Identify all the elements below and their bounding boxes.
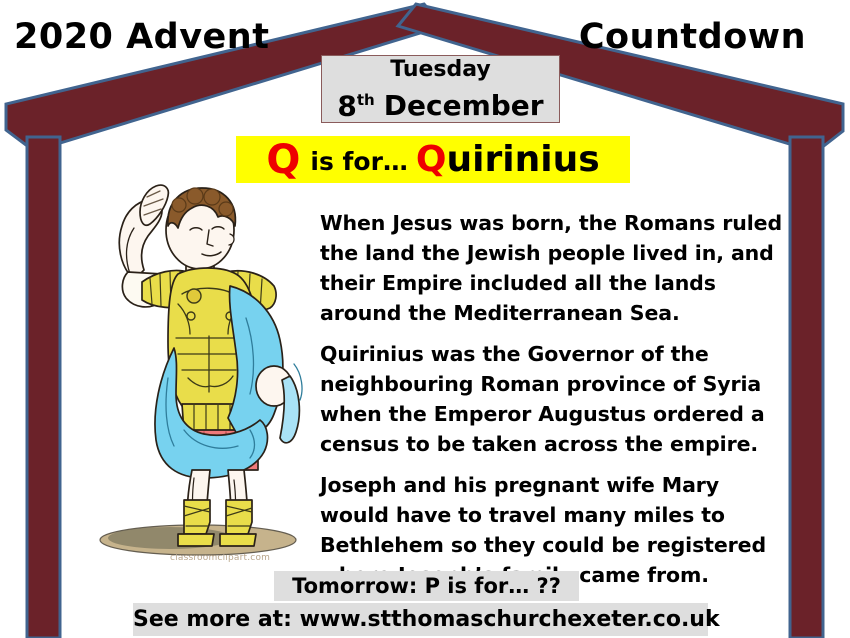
date-month: December (384, 89, 544, 122)
see-more-plate: See more at: www.stthomaschurchexeter.co… (133, 603, 708, 636)
image-watermark: classroomclipart.com (170, 553, 320, 563)
roman-governor-illustration: classroomclipart.com (78, 178, 316, 573)
word-initial-letter: Q (416, 142, 447, 178)
letter-glyph: Q (266, 140, 300, 180)
header-title-left: 2020 Advent (14, 17, 269, 57)
post-right (790, 137, 823, 638)
sandal-right (226, 500, 252, 534)
letter-of-the-day-banner: Q is for… Quirinius (236, 136, 630, 183)
post-left (27, 137, 60, 638)
story-text: When Jesus was born, the Romans ruled th… (320, 208, 788, 601)
chest-medallion (187, 289, 201, 303)
date-day: 8 (337, 89, 356, 122)
date-ordinal-suffix: th (357, 91, 375, 109)
date-day-month: 8thDecember (322, 83, 559, 123)
hanging-cloth (280, 376, 299, 443)
letter-connector-text: is for… (310, 149, 408, 174)
tomorrow-teaser-text: Tomorrow: P is for… ?? (292, 574, 561, 598)
date-weekday: Tuesday (322, 57, 559, 83)
tomorrow-teaser-plate: Tomorrow: P is for… ?? (274, 571, 579, 601)
header-title-right: Countdown (579, 17, 806, 57)
advent-countdown-slide: 2020 Advent Countdown Tuesday 8thDecembe… (0, 0, 850, 638)
scroll (140, 185, 168, 225)
word-remainder: uirinius (447, 142, 600, 178)
story-paragraph-1: When Jesus was born, the Romans ruled th… (320, 208, 788, 328)
story-paragraph-2: Quirinius was the Governor of the neighb… (320, 339, 788, 459)
see-more-url-text: See more at: www.stthomaschurchexeter.co… (133, 607, 720, 632)
sandal-left (184, 500, 210, 534)
date-plate: Tuesday 8thDecember (321, 55, 560, 123)
